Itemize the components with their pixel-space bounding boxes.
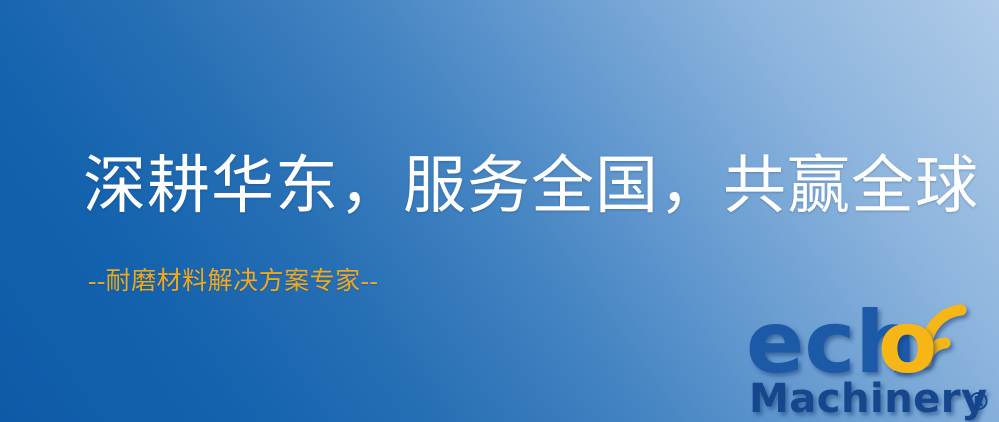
promo-banner: 深耕华东，服务全国，共赢全球 --耐磨材料解决方案专家-- ech o Mach… [0,0,999,422]
logo-trademark-symbol: ® [966,387,991,416]
logo-text-machinery: Machinery [749,376,988,422]
banner-headline: 深耕华东，服务全国，共赢全球 [83,152,979,220]
echo-machinery-logo: ech o Machinery ® [748,296,999,422]
banner-subtitle: --耐磨材料解决方案专家-- [88,268,378,297]
